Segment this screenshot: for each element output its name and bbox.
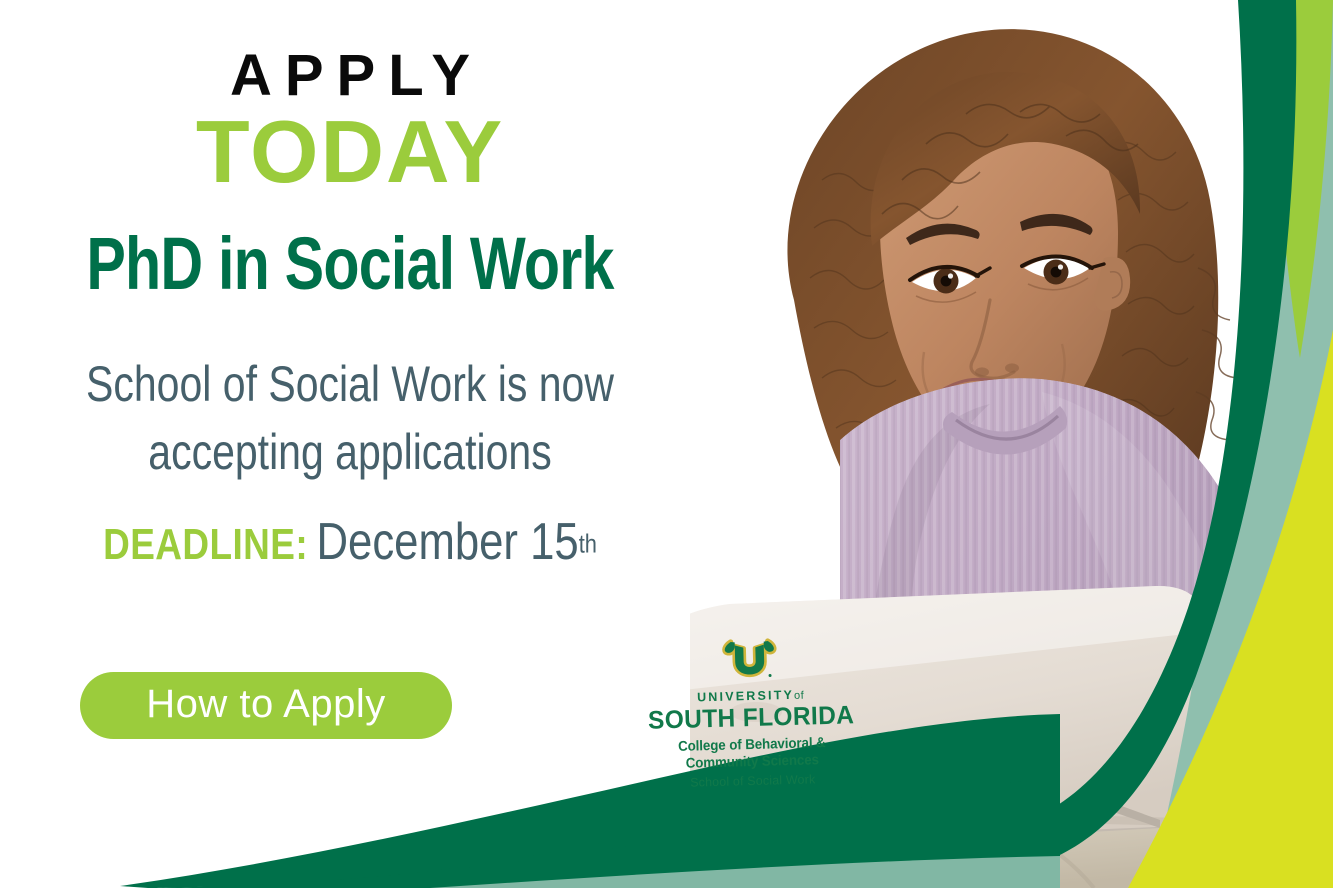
banner-copy-block: APPLY TODAY PhD in Social Work School of…: [0, 0, 700, 888]
apply-today-banner: UNIVERSITYof SOUTH FLORIDA College of Be…: [0, 0, 1333, 888]
subheadline: School of Social Work is now accepting a…: [63, 350, 637, 486]
eyebrow-today: TODAY: [0, 104, 700, 200]
deadline-value: December 15: [316, 513, 578, 571]
student-photo: [690, 0, 1333, 888]
subheadline-line-2: accepting applications: [63, 418, 637, 486]
student-photo-illustration: [690, 0, 1333, 888]
how-to-apply-button[interactable]: How to Apply: [80, 672, 452, 739]
deadline-ordinal-suffix: th: [579, 529, 597, 559]
subheadline-line-1: School of Social Work is now: [63, 350, 637, 418]
eyebrow-apply: APPLY: [0, 46, 700, 106]
page-title: PhD in Social Work: [70, 222, 630, 306]
deadline-label: DEADLINE:: [103, 520, 308, 569]
deadline-row: DEADLINE:December 15th: [56, 512, 644, 572]
